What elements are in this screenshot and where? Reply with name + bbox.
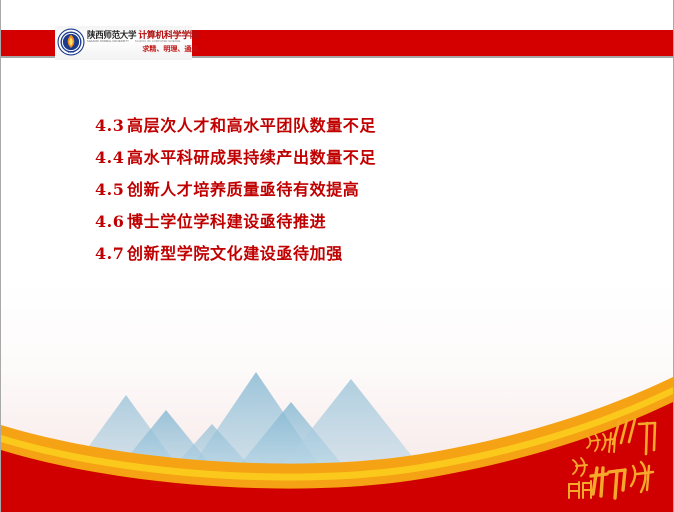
content-line-item: 4.7 创新型学院文化建设亟待加强 bbox=[95, 240, 376, 264]
calligraphy-glyph-bold bbox=[591, 468, 625, 498]
university-logo-plate: 1944 陕西师范大学 计算机科学学院 SHAANXI NORMAL UNIVE… bbox=[55, 26, 192, 60]
content-line-text: 创新型学院文化建设亟待加强 bbox=[127, 240, 343, 264]
content-line-number: 4.3 bbox=[95, 116, 127, 135]
content-line-number: 4.7 bbox=[95, 244, 127, 263]
calligraphy-glyph-large bbox=[613, 419, 655, 454]
logo-motto-text: 求精、明理、通达 bbox=[87, 44, 198, 54]
content-line-number: 4.6 bbox=[95, 212, 127, 231]
calligraphy-glyph-small-a bbox=[587, 434, 600, 451]
content-line-item: 4.3 高层次人才和高水平团队数量不足 bbox=[95, 112, 376, 136]
snnu-seal-emblem-icon: 1944 bbox=[57, 28, 85, 56]
content-line-text: 博士学位学科建设亟待推进 bbox=[127, 208, 326, 232]
content-line-item: 4.4 高水平科研成果持续产出数量不足 bbox=[95, 144, 376, 168]
slide-canvas: 1944 陕西师范大学 计算机科学学院 SHAANXI NORMAL UNIVE… bbox=[0, 0, 674, 512]
shi-character-calligraphy bbox=[559, 410, 667, 506]
content-line-text: 创新人才培养质量亟待有效提高 bbox=[127, 176, 359, 200]
logo-text-block: 陕西师范大学 计算机科学学院 SHAANXI NORMAL UNIVERSITY… bbox=[85, 27, 198, 54]
calligraphy-glyph-seal bbox=[569, 481, 591, 498]
logo-university-name-en: SHAANXI NORMAL UNIVERSITY bbox=[87, 40, 129, 43]
content-line-number: 4.5 bbox=[95, 180, 127, 199]
content-line-text: 高层次人才和高水平团队数量不足 bbox=[127, 112, 376, 136]
content-line-number: 4.4 bbox=[95, 148, 127, 167]
content-line-item: 4.5 创新人才培养质量亟待有效提高 bbox=[95, 176, 376, 200]
slide-content-list: 4.3 高层次人才和高水平团队数量不足 4.4 高水平科研成果持续产出数量不足 … bbox=[95, 112, 376, 272]
content-line-item: 4.6 博士学位学科建设亟待推进 bbox=[95, 208, 376, 232]
calligraphy-glyph-cursive bbox=[631, 462, 653, 492]
logo-english-names: SHAANXI NORMAL UNIVERSITY SCHOOL OF COMP… bbox=[87, 40, 198, 43]
calligraphy-glyph-small-c bbox=[573, 458, 587, 476]
content-line-text: 高水平科研成果持续产出数量不足 bbox=[127, 144, 376, 168]
svg-text:1944: 1944 bbox=[68, 50, 75, 54]
logo-school-name-en: SCHOOL OF COMPUTER SCIENCE bbox=[135, 40, 181, 43]
